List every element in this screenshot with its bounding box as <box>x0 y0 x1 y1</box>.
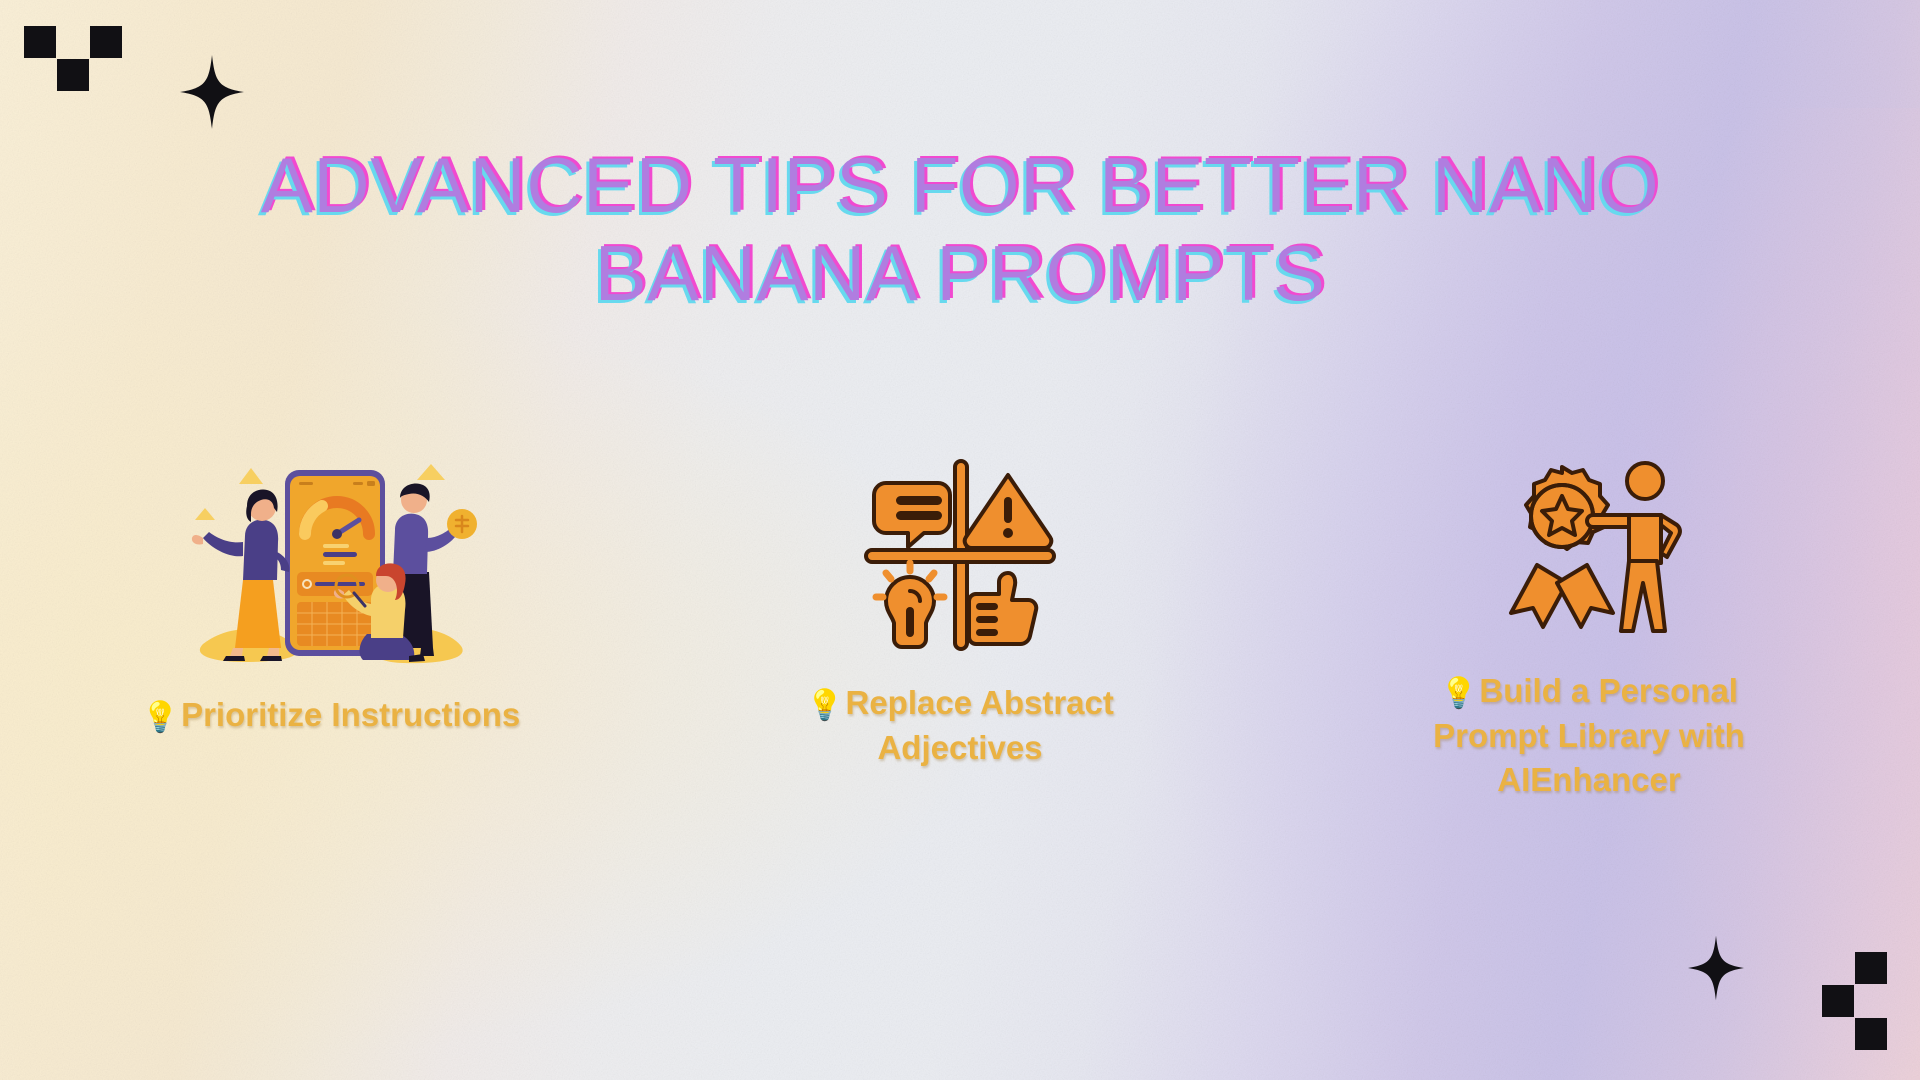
light-bulb-icon: 💡 <box>806 689 843 722</box>
title-line-2: BANANA PROMPTS <box>150 236 1770 310</box>
title-line-1: ADVANCED TIPS FOR BETTER NANO <box>150 148 1770 222</box>
tip-card-caption: 💡Build a Personal Prompt Library with AI… <box>1384 669 1794 802</box>
tip-card-replace-abstract-adjectives: 💡Replace Abstract Adjectives <box>725 445 1195 770</box>
sparkle-bottom-right-icon <box>1688 935 1744 1001</box>
tip-card-caption-text: Replace Abstract Adjectives <box>845 684 1113 766</box>
tip-card-build-personal-prompt-library: 💡Build a Personal Prompt Library with AI… <box>1354 433 1824 802</box>
checker-square <box>57 59 89 91</box>
checker-square <box>24 26 56 58</box>
feedback-quadrant-icon <box>860 445 1060 655</box>
sparkle-top-left-icon <box>180 55 244 129</box>
checker-bottom-right-decoration <box>1822 952 1920 1052</box>
light-bulb-icon: 💡 <box>142 701 179 734</box>
slide-canvas: ADVANCED TIPS FOR BETTER NANO BANANA PRO… <box>0 0 1920 1080</box>
award-badge-and-person-icon <box>1489 433 1689 643</box>
tip-card-prioritize-instructions: 💡Prioritize Instructions <box>96 457 566 738</box>
checker-top-left-decoration <box>24 26 124 94</box>
tip-card-caption-text: Prioritize Instructions <box>181 696 520 733</box>
tip-card-caption-text: Build a Personal Prompt Library with AIE… <box>1433 672 1745 798</box>
checker-square <box>1822 985 1854 1017</box>
checker-square <box>1855 952 1887 984</box>
tip-card-caption: 💡Prioritize Instructions <box>142 693 521 738</box>
checker-square <box>1855 1018 1887 1050</box>
tip-card-caption: 💡Replace Abstract Adjectives <box>780 681 1140 770</box>
light-bulb-icon: 💡 <box>1440 677 1477 710</box>
people-with-smartphone-dashboard-illustration <box>181 457 481 667</box>
page-title: ADVANCED TIPS FOR BETTER NANO BANANA PRO… <box>0 148 1920 310</box>
tips-card-row: 💡Prioritize Instructions <box>0 405 1920 802</box>
checker-square <box>90 26 122 58</box>
